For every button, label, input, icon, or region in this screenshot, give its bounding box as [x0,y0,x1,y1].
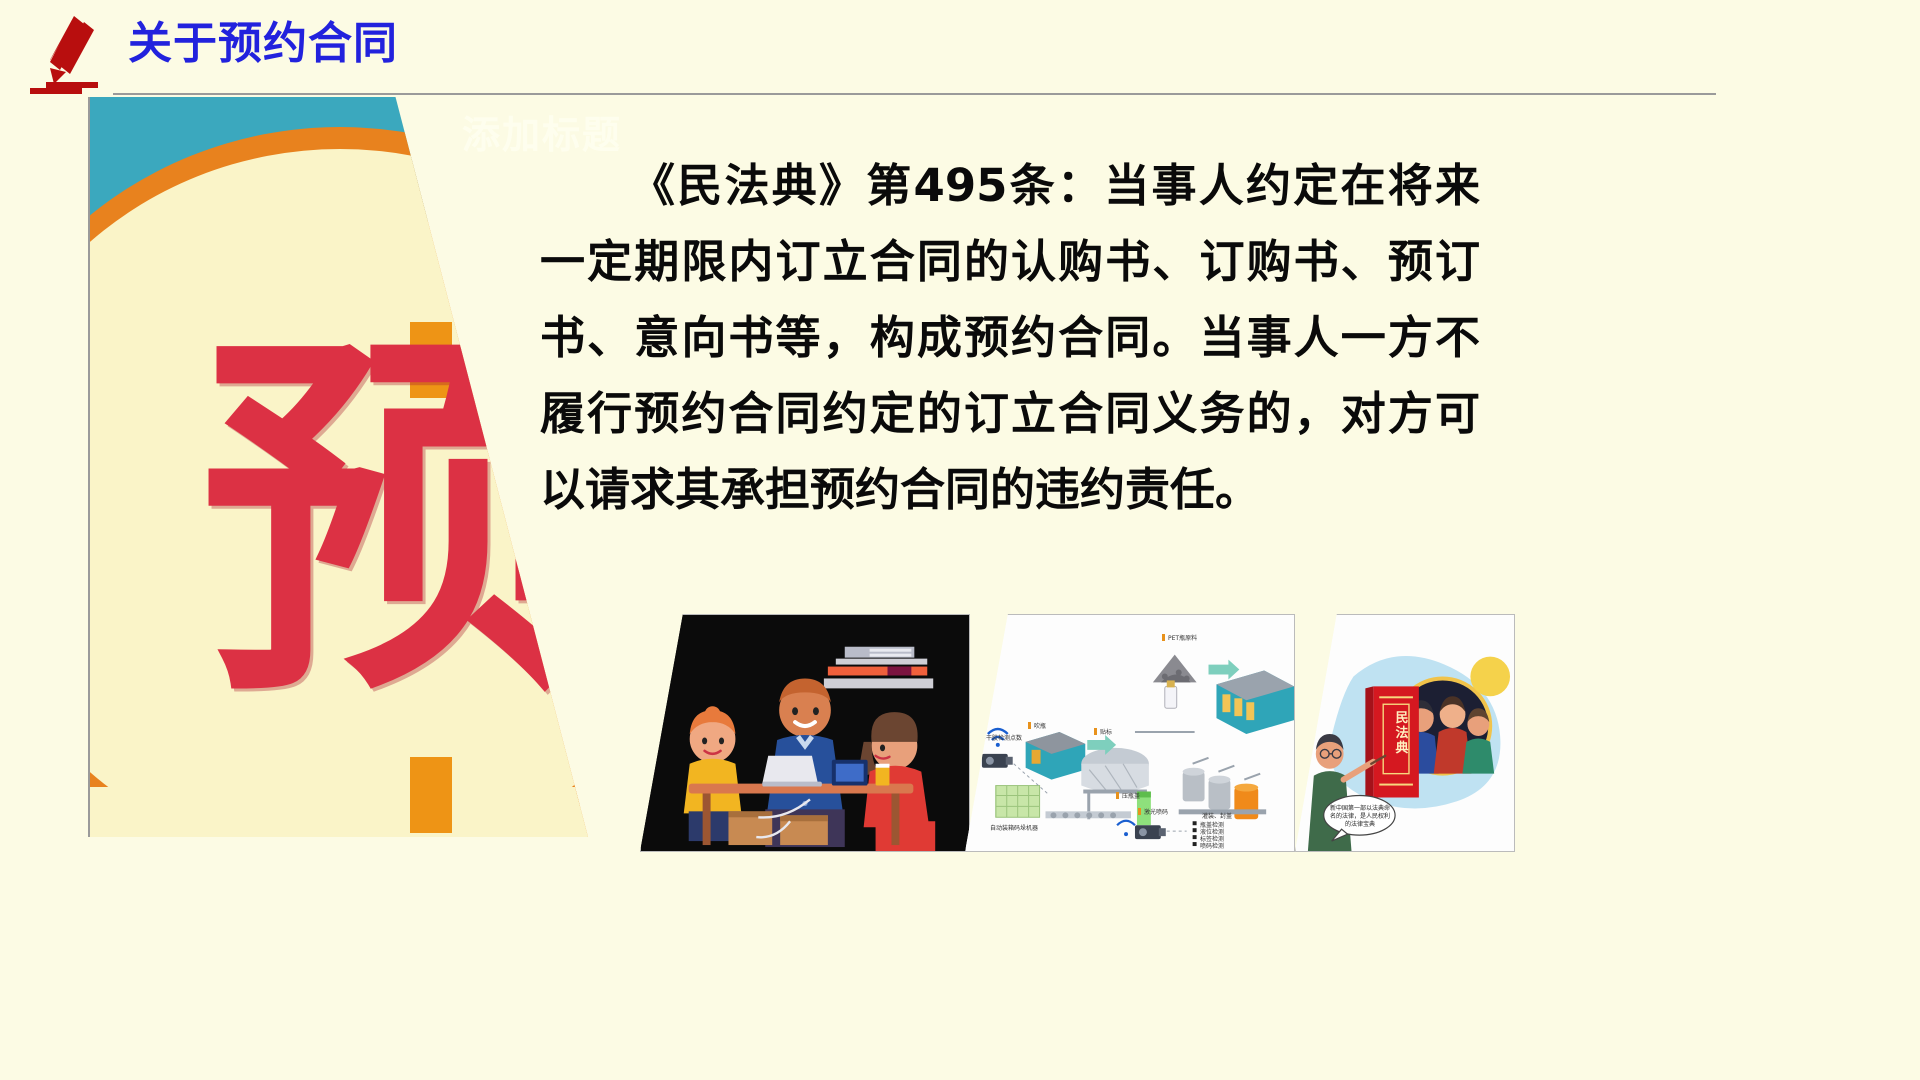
label-capping: 压瓶盖 [1116,791,1140,800]
art-orange-arc-bottom [88,787,588,837]
slide-canvas: 关于预约合同 预 添加标题 《民法典》第495条：当事人约定在将来一定期限内订立… [0,0,1920,1080]
label-labeling: 贴标 [1094,727,1112,736]
speech-bubble-text: 新中国第一部以法典命名的法律，是人民权利的法律宝典 [1330,805,1390,829]
page-title: 关于预约合同 [128,22,398,66]
photo-office-meeting[interactable] [640,614,970,852]
office-meeting-illustration [641,615,969,851]
book-title-civil-code: 民法典 [1392,711,1412,756]
art-tick-bottom [410,757,452,833]
label-blow-molding: 吹瓶 [1028,721,1046,730]
body-paragraph: 《民法典》第495条：当事人约定在将来一定期限内订立合同的认购书、订购书、预订书… [540,148,1480,528]
label-auto-palletizer: 自动装箱码垛机器 [990,823,1038,832]
title-dash [30,88,82,94]
title-divider [113,93,1716,95]
decorative-art-panel: 预 [88,97,588,837]
label-code-detection: 喷码检测 [1200,841,1224,850]
label-dry-glue-detect: 不干胶检测点数 [980,733,1022,742]
label-laser-coding: 激光喷码 [1138,807,1168,816]
label-filling-capping: 灌装、封盖 [1202,811,1232,820]
photo-production-line[interactable]: PET瓶原料 吹瓶 贴标 压瓶盖 激光喷码 不干胶检测点数 自动装箱码垛机器 灌… [965,614,1295,852]
art-big-character: 预 [200,332,580,712]
label-pet-raw-material: PET瓶原料 [1162,633,1197,642]
slide-header: 关于预约合同 [0,0,1920,100]
pencil-icon [40,14,110,90]
photo-civil-code-book[interactable]: 民法典 新中国第一部以法典命名的法律，是人民权利的法律宝典 [1295,614,1515,852]
